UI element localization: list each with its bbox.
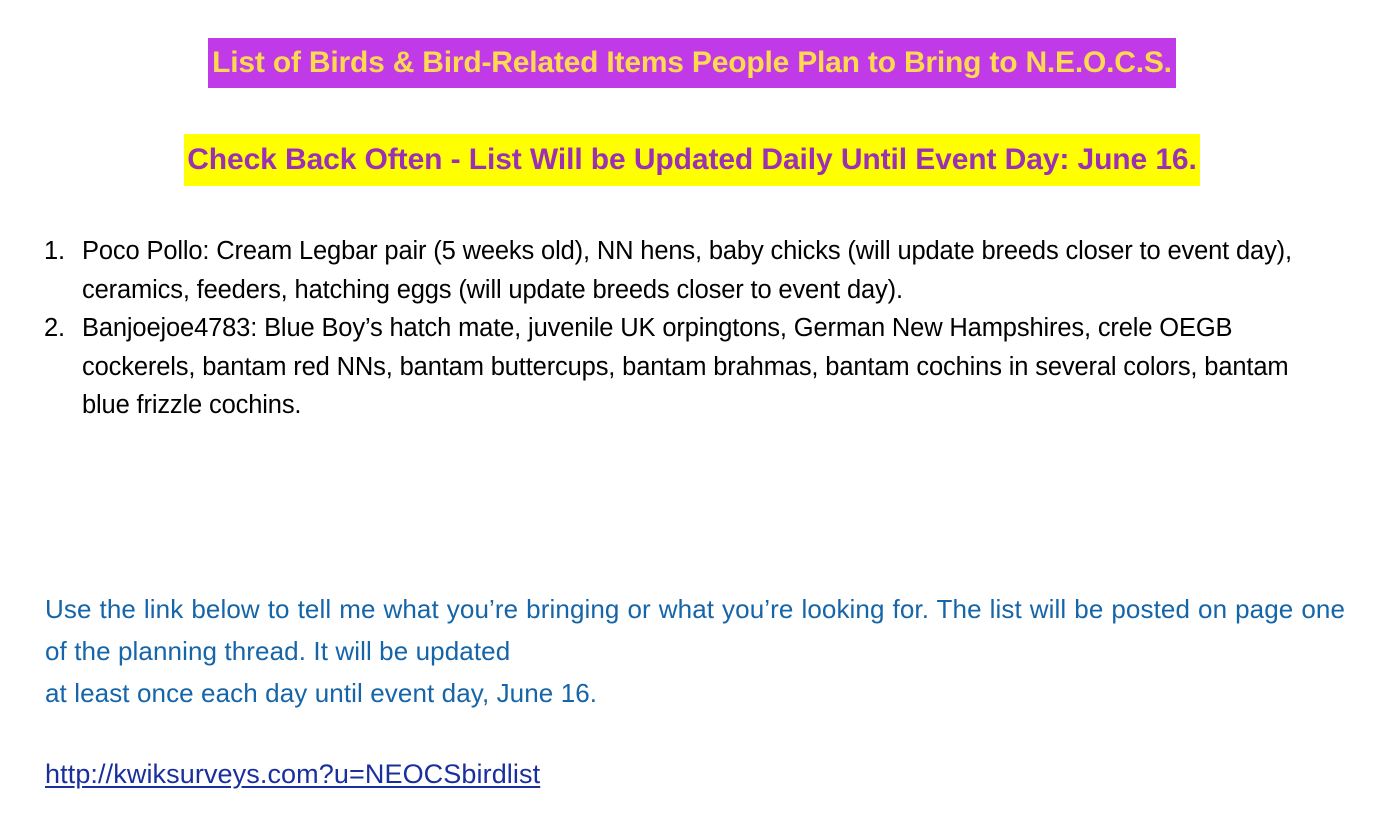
bird-list: 1. Poco Pollo: Cream Legbar pair (5 week… <box>44 232 1314 425</box>
list-item-marker: 1. <box>44 232 82 271</box>
title-banner: List of Birds & Bird-Related Items Peopl… <box>0 38 1384 88</box>
list-item-text: Poco Pollo: Cream Legbar pair (5 weeks o… <box>82 232 1314 309</box>
list-item-text: Banjoejoe4783: Blue Boy’s hatch mate, ju… <box>82 309 1314 425</box>
list-item: 2. Banjoejoe4783: Blue Boy’s hatch mate,… <box>44 309 1314 425</box>
survey-link-row: http://kwiksurveys.com?u=NEOCSbirdlist <box>45 754 540 794</box>
instructions-body: Use the link below to tell me what you’r… <box>45 594 1345 666</box>
instructions-last-line: at least once each day until event day, … <box>45 672 1345 714</box>
page-title: List of Birds & Bird-Related Items Peopl… <box>208 38 1176 88</box>
page-subtitle: Check Back Often - List Will be Updated … <box>184 134 1200 186</box>
list-item-marker: 2. <box>44 309 82 348</box>
list-item: 1. Poco Pollo: Cream Legbar pair (5 week… <box>44 232 1314 309</box>
survey-url-link[interactable]: http://kwiksurveys.com?u=NEOCSbirdlist <box>45 759 540 789</box>
instructions-paragraph: Use the link below to tell me what you’r… <box>45 588 1345 714</box>
subtitle-banner: Check Back Often - List Will be Updated … <box>0 134 1384 186</box>
